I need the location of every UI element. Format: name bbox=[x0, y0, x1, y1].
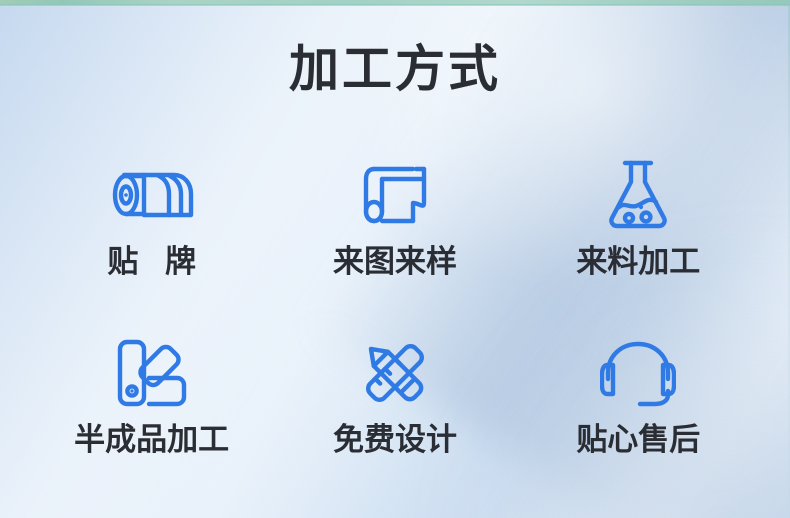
feature-label: 免费设计 bbox=[333, 424, 457, 455]
blueprint-scroll-icon bbox=[361, 150, 429, 238]
feature-grid: 贴 牌 bbox=[30, 150, 760, 510]
banner-content: 加工方式 bbox=[0, 0, 790, 518]
flask-icon bbox=[605, 150, 671, 238]
feature-label: 来料加工 bbox=[576, 246, 700, 277]
page-title: 加工方式 bbox=[0, 44, 790, 94]
promo-banner: 加工方式 bbox=[0, 0, 790, 518]
feature-label: 贴心售后 bbox=[576, 424, 700, 455]
feature-label: 贴 牌 bbox=[98, 246, 205, 277]
feature-item-material-processing[interactable]: 来料加工 bbox=[517, 150, 760, 330]
feature-item-oem[interactable]: 贴 牌 bbox=[30, 150, 273, 330]
pencil-ruler-icon bbox=[357, 330, 433, 416]
feature-label: 半成品加工 bbox=[74, 424, 229, 455]
feature-item-drawing-sample[interactable]: 来图来样 bbox=[273, 150, 516, 330]
fabric-roll-icon bbox=[106, 150, 198, 238]
feature-label: 来图来样 bbox=[333, 246, 457, 277]
feature-item-semi-finished[interactable]: 半成品加工 bbox=[30, 330, 273, 510]
color-swatch-icon bbox=[115, 330, 189, 416]
feature-item-after-sales[interactable]: 贴心售后 bbox=[517, 330, 760, 510]
feature-item-free-design[interactable]: 免费设计 bbox=[273, 330, 516, 510]
headset-icon bbox=[600, 330, 676, 416]
